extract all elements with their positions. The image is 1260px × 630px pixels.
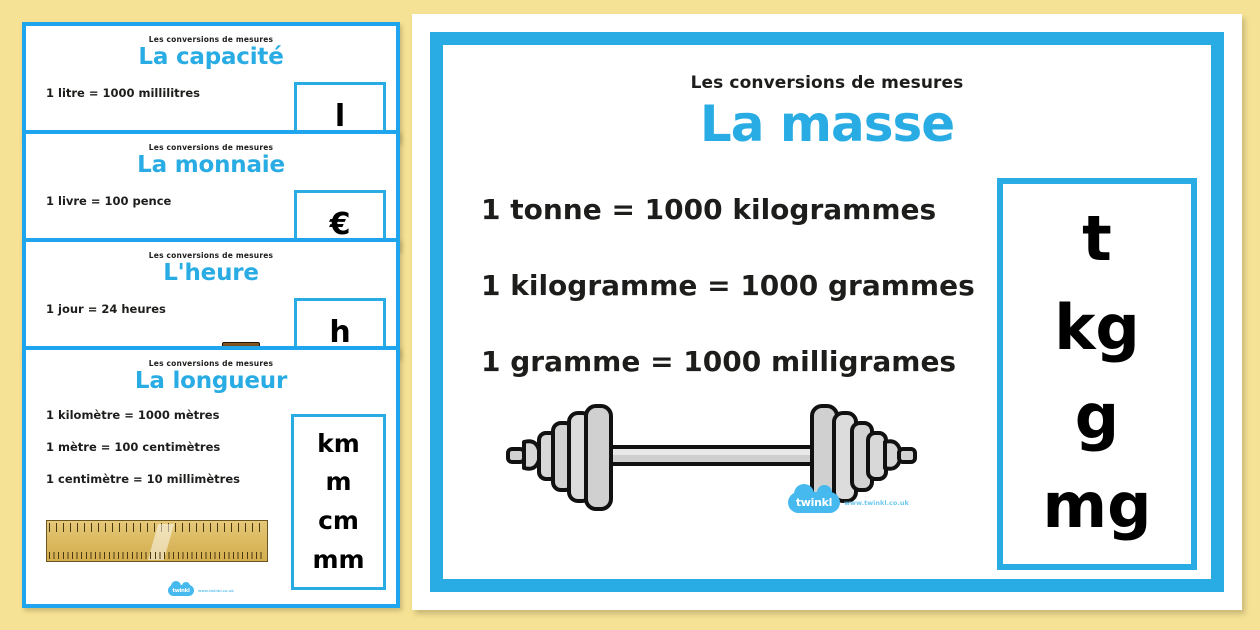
twinkl-logo: twinkl www.twinkl.co.uk — [168, 585, 234, 596]
unit-symbol: cm — [318, 502, 359, 541]
twinkl-url: www.twinkl.co.uk — [198, 589, 234, 593]
unit-symbol: km — [317, 425, 360, 464]
cloud-icon: twinkl — [788, 492, 840, 513]
unit-symbol: l — [335, 101, 345, 133]
mini-unit-box: km m cm mm — [291, 414, 386, 590]
conversion-list: 1 tonne = 1000 kilogrammes 1 kilogramme … — [481, 193, 975, 421]
mini-poster-capacite[interactable]: Les conversions de mesures La capacité 1… — [22, 22, 400, 142]
twinkl-wordmark: twinkl — [172, 588, 189, 594]
main-poster-masse[interactable]: Les conversions de mesures La masse 1 to… — [412, 14, 1242, 610]
mini-kicker: Les conversions de mesures — [26, 350, 396, 368]
unit-symbol: g — [1075, 386, 1119, 448]
mini-poster-monnaie[interactable]: Les conversions de mesures La monnaie 1 … — [22, 130, 400, 250]
conversion-line: 1 jour = 24 heures — [46, 302, 166, 316]
mini-conversion-list: 1 litre = 1000 millilitres — [46, 86, 200, 118]
page-title: La masse — [443, 93, 1211, 153]
mini-kicker: Les conversions de mesures — [26, 242, 396, 260]
ruler-icon — [46, 520, 268, 562]
unit-symbol: h — [329, 317, 350, 349]
unit-symbol: mm — [312, 541, 364, 580]
twinkl-logo: twinkl www.twinkl.co.uk — [788, 492, 909, 513]
mini-poster-longueur[interactable]: Les conversions de mesures La longueur 1… — [22, 346, 400, 608]
unit-box: t kg g mg — [997, 178, 1197, 570]
mini-kicker: Les conversions de mesures — [26, 26, 396, 44]
mini-title: La longueur — [26, 368, 396, 394]
unit-symbol: m — [325, 463, 351, 502]
conversion-line: 1 mètre = 100 centimètres — [46, 440, 240, 454]
conversion-line: 1 tonne = 1000 kilogrammes — [481, 193, 975, 227]
twinkl-wordmark: twinkl — [796, 496, 832, 509]
poster-stage: Les conversions de mesures La capacité 1… — [0, 0, 1260, 630]
conversion-line: 1 litre = 1000 millilitres — [46, 86, 200, 100]
unit-symbol: mg — [1043, 475, 1152, 537]
mini-title: La capacité — [26, 44, 396, 70]
poster-blue-frame: Les conversions de mesures La masse 1 to… — [430, 32, 1224, 592]
conversion-line: 1 kilomètre = 1000 mètres — [46, 408, 240, 422]
conversion-line: 1 centimètre = 10 millimètres — [46, 472, 240, 486]
page-kicker: Les conversions de mesures — [443, 45, 1211, 93]
unit-symbol: t — [1082, 208, 1112, 270]
ruler-gloss — [147, 524, 173, 560]
unit-symbol: € — [330, 209, 351, 241]
conversion-line: 1 kilogramme = 1000 grammes — [481, 269, 975, 303]
mini-conversion-list: 1 jour = 24 heures — [46, 302, 166, 334]
conversion-line: 1 livre = 100 pence — [46, 194, 171, 208]
conversion-line: 1 gramme = 1000 milligrames — [481, 345, 975, 379]
mini-kicker: Les conversions de mesures — [26, 134, 396, 152]
mini-title: L'heure — [26, 260, 396, 286]
mini-title: La monnaie — [26, 152, 396, 178]
unit-symbol: kg — [1054, 297, 1140, 359]
mini-poster-heure[interactable]: Les conversions de mesures L'heure 1 jou… — [22, 238, 400, 358]
twinkl-url: www.twinkl.co.uk — [844, 499, 909, 507]
mini-poster-stack: Les conversions de mesures La capacité 1… — [22, 22, 400, 608]
cloud-icon: twinkl — [168, 585, 194, 596]
mini-conversion-list: 1 livre = 100 pence — [46, 194, 171, 226]
mini-conversion-list: 1 kilomètre = 1000 mètres 1 mètre = 100 … — [46, 408, 240, 504]
